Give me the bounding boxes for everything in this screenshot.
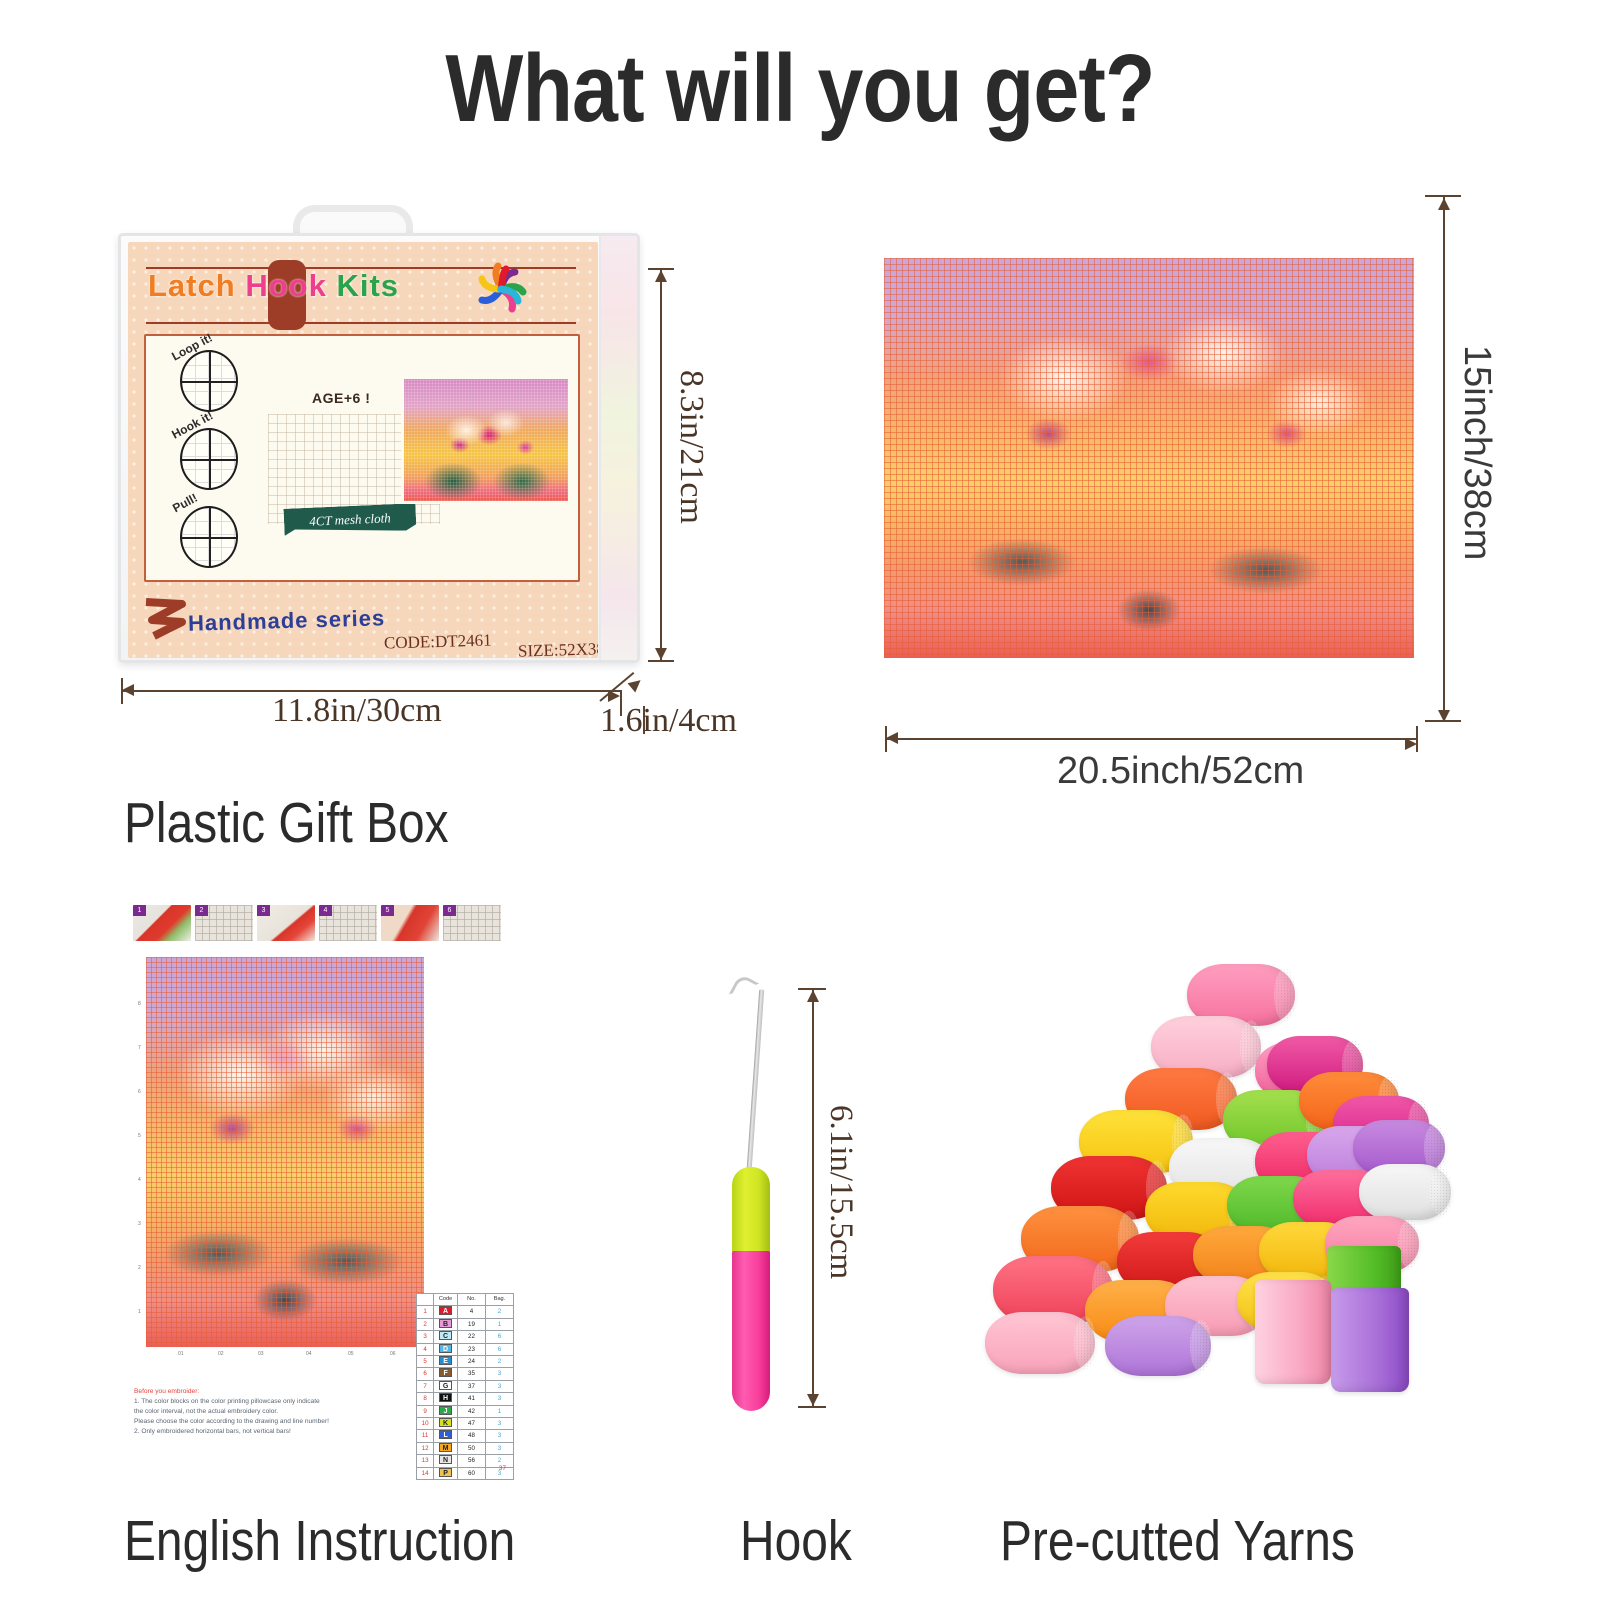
legend-color-swatch: K — [439, 1418, 452, 1427]
legend-total: 37 — [416, 1465, 514, 1472]
legend-header-index — [417, 1294, 434, 1306]
box-height-dim-label: 8.3in/21cm — [672, 370, 710, 524]
caption-pre-cutted-yarns: Pre-cutted Yarns — [1000, 1508, 1355, 1574]
note-line-1: 1. The color blocks on the color printin… — [134, 1398, 320, 1405]
mesh-canvas-photo — [884, 258, 1414, 658]
step-diagram-hook — [180, 428, 238, 490]
legend-row: 6F353 — [417, 1368, 514, 1380]
legend-code: G — [434, 1380, 458, 1392]
product-infographic: What will you get? Latch Hook Kits — [0, 0, 1600, 1600]
chart-y-tick: 4 — [138, 1177, 141, 1183]
note-heading: Before you embroider: — [134, 1387, 404, 1397]
hook-length-dim-line — [812, 990, 814, 1408]
zigzag-icon — [142, 598, 188, 640]
legend-index: 6 — [417, 1368, 434, 1380]
yarn-cylinder-pink — [1255, 1280, 1331, 1384]
legend-code: K — [434, 1418, 458, 1430]
legend-bag: 2 — [485, 1356, 513, 1368]
thumbnail-number: 6 — [443, 905, 456, 916]
thumbnail-number: 1 — [133, 905, 146, 916]
legend-code: J — [434, 1405, 458, 1417]
legend-code: M — [434, 1442, 458, 1454]
legend-index: 12 — [417, 1442, 434, 1454]
legend-color-swatch: M — [439, 1443, 452, 1452]
thumbnail-number: 3 — [257, 905, 270, 916]
legend-row: 1A42 — [417, 1306, 514, 1318]
legend-row: 7G373 — [417, 1380, 514, 1392]
box-title-word-3: Kits — [336, 268, 399, 303]
box-bottom-band: Handmade series CODE:DT2461 SIZE:52X38CM — [128, 582, 598, 658]
note-line-4: 2. Only embroidered horizontal bars, not… — [134, 1428, 291, 1435]
legend-row: 5E242 — [417, 1356, 514, 1368]
canvas-height-dim-label: 15inch/38cm — [1455, 345, 1498, 560]
legend-color-swatch: A — [439, 1306, 452, 1315]
legend-color-swatch: G — [439, 1381, 452, 1390]
caption-english-instruction: English Instruction — [124, 1508, 515, 1574]
box-side-edge — [599, 236, 637, 660]
chart-y-tick: 6 — [138, 1089, 141, 1095]
hook-tool-photo — [716, 975, 796, 1425]
box-height-dim-line — [660, 270, 662, 660]
legend-no: 47 — [457, 1418, 485, 1430]
yarn-bundle — [1359, 1164, 1451, 1220]
legend-header-row: Code No. Bag. — [417, 1294, 514, 1306]
legend-no: 42 — [457, 1405, 485, 1417]
yarn-bundle — [985, 1312, 1095, 1374]
legend-code: D — [434, 1343, 458, 1355]
color-legend-table: Code No. Bag. 1A422B1913C2264D2365E2426F… — [416, 1293, 514, 1480]
pinwheel-logo-icon — [470, 258, 532, 320]
legend-header-bag: Bag. — [485, 1294, 513, 1306]
legend-row: 10K473 — [417, 1418, 514, 1430]
chart-x-tick: 02 — [218, 1351, 224, 1357]
box-size-label: SIZE:52X38CM — [518, 638, 598, 658]
yarn-pile-photo — [955, 950, 1455, 1420]
legend-bag: 3 — [485, 1442, 513, 1454]
canvas-width-dim-label: 20.5inch/52cm — [1057, 750, 1304, 793]
legend-color-swatch: E — [439, 1356, 452, 1365]
legend-bag: 6 — [485, 1331, 513, 1343]
thumbnail-number: 4 — [319, 905, 332, 916]
chart-x-tick: 04 — [306, 1351, 312, 1357]
canvas-width-dim-line — [886, 738, 1418, 740]
legend-index: 9 — [417, 1405, 434, 1417]
legend-code: B — [434, 1318, 458, 1330]
caption-plastic-gift-box: Plastic Gift Box — [124, 790, 449, 856]
legend-index: 2 — [417, 1318, 434, 1330]
step-thumbnail-row: 1 1 2 2 3 3 4 4 5 5 6 6 — [133, 905, 513, 947]
page-title: What will you get? — [112, 34, 1488, 144]
hook-barb-icon — [729, 973, 760, 1005]
caption-hook: Hook — [740, 1508, 852, 1574]
box-title-word-1: Latch — [148, 268, 236, 303]
mesh-canvas-grid — [884, 258, 1414, 658]
step-thumbnail: 6 6 — [443, 905, 501, 941]
chart-y-tick: 5 — [138, 1133, 141, 1139]
legend-row: 12M503 — [417, 1442, 514, 1454]
legend-bag: 3 — [485, 1368, 513, 1380]
box-front-panel: Latch Hook Kits — [128, 242, 598, 658]
step-thumbnail: 4 4 — [319, 905, 377, 941]
legend-row: 8H413 — [417, 1393, 514, 1405]
legend-color-swatch: C — [439, 1331, 452, 1340]
canvas-height-dim-line — [1443, 196, 1445, 722]
legend-no: 23 — [457, 1343, 485, 1355]
legend-bag: 3 — [485, 1430, 513, 1442]
legend-bag: 1 — [485, 1318, 513, 1330]
thumbnail-number: 5 — [381, 905, 394, 916]
chart-y-tick: 8 — [138, 1001, 141, 1007]
legend-no: 41 — [457, 1393, 485, 1405]
legend-bag: 3 — [485, 1418, 513, 1430]
legend-color-swatch: N — [439, 1455, 452, 1464]
legend-no: 48 — [457, 1430, 485, 1442]
legend-bag: 3 — [485, 1393, 513, 1405]
legend-row: 3C226 — [417, 1331, 514, 1343]
step-diagram-pull — [180, 506, 238, 568]
legend-code: L — [434, 1430, 458, 1442]
step-thumbnail: 5 5 — [381, 905, 439, 941]
legend-no: 35 — [457, 1368, 485, 1380]
note-line-2: the color interval, not the actual embro… — [134, 1408, 278, 1415]
mesh-ribbon: 4CT mesh cloth — [283, 503, 416, 536]
instruction-sheet: 1 1 2 2 3 3 4 4 5 5 6 6 — [128, 905, 518, 1485]
box-shell: Latch Hook Kits — [118, 233, 640, 663]
gift-box-photo: Latch Hook Kits — [118, 205, 648, 675]
pattern-chart-grid — [146, 957, 424, 1347]
legend-index: 8 — [417, 1393, 434, 1405]
legend-color-swatch: H — [439, 1393, 452, 1402]
legend-code: E — [434, 1356, 458, 1368]
legend-color-swatch: J — [439, 1406, 452, 1415]
legend-row: 4D236 — [417, 1343, 514, 1355]
legend-code: F — [434, 1368, 458, 1380]
legend-index: 3 — [417, 1331, 434, 1343]
legend-no: 4 — [457, 1306, 485, 1318]
chart-x-tick: 05 — [348, 1351, 354, 1357]
yarn-bundle — [1105, 1316, 1211, 1376]
legend-index: 7 — [417, 1380, 434, 1392]
step-thumbnail: 1 1 — [133, 905, 191, 941]
legend-header-no: No. — [457, 1294, 485, 1306]
age-note: AGE+6 ! — [312, 390, 370, 406]
before-you-embroider-note: Before you embroider: 1. The color block… — [134, 1387, 404, 1436]
legend-no: 22 — [457, 1331, 485, 1343]
hook-handle-lower — [732, 1251, 770, 1411]
legend-color-swatch: F — [439, 1368, 452, 1377]
legend-index: 4 — [417, 1343, 434, 1355]
pattern-chart — [146, 957, 424, 1347]
handmade-series-label: Handmade series — [188, 605, 386, 636]
legend-no: 37 — [457, 1380, 485, 1392]
step-thumbnail: 3 3 — [257, 905, 315, 941]
thumbnail-number: 2 — [195, 905, 208, 916]
chart-x-tick: 03 — [258, 1351, 264, 1357]
legend-bag: 3 — [485, 1380, 513, 1392]
chart-x-tick: 06 — [390, 1351, 396, 1357]
note-line-3: Please choose the color according to the… — [134, 1418, 329, 1425]
chart-y-tick: 3 — [138, 1221, 141, 1227]
legend-no: 50 — [457, 1442, 485, 1454]
legend-header-code: Code — [434, 1294, 458, 1306]
chart-y-tick: 7 — [138, 1045, 141, 1051]
legend-code: H — [434, 1393, 458, 1405]
box-instruction-panel: Loop it! Hook it! Pull! AGE+6 ! 4CT mesh… — [144, 334, 580, 582]
legend-row: 2B191 — [417, 1318, 514, 1330]
legend-index: 10 — [417, 1418, 434, 1430]
legend-row: 9J421 — [417, 1405, 514, 1417]
hook-handle-upper — [732, 1167, 770, 1253]
chart-y-tick: 1 — [138, 1309, 141, 1315]
box-depth-dim-label: 1.6in/4cm — [600, 702, 737, 740]
legend-index: 5 — [417, 1356, 434, 1368]
legend-index: 11 — [417, 1430, 434, 1442]
legend-bag: 2 — [485, 1306, 513, 1318]
chart-x-tick: 01 — [178, 1351, 184, 1357]
legend-row: 11L483 — [417, 1430, 514, 1442]
legend-color-swatch: L — [439, 1430, 452, 1439]
box-title: Latch Hook Kits — [148, 268, 399, 304]
box-code-label: CODE:DT2461 — [384, 631, 492, 654]
box-width-dim-label: 11.8in/30cm — [272, 692, 442, 730]
chart-y-tick: 2 — [138, 1265, 141, 1271]
hook-length-dim-label: 6.1in/15.5cm — [822, 1105, 859, 1279]
box-title-word-2: Hook — [245, 268, 327, 303]
legend-code: C — [434, 1331, 458, 1343]
legend-bag: 1 — [485, 1405, 513, 1417]
legend-color-swatch: B — [439, 1319, 452, 1328]
finished-rug-photo — [401, 376, 571, 504]
hook-needle — [746, 989, 764, 1179]
legend-no: 24 — [457, 1356, 485, 1368]
legend-bag: 6 — [485, 1343, 513, 1355]
legend-color-swatch: D — [439, 1344, 452, 1353]
legend-code: A — [434, 1306, 458, 1318]
legend-index: 1 — [417, 1306, 434, 1318]
step-thumbnail: 2 2 — [195, 905, 253, 941]
step-diagram-loop — [180, 350, 238, 412]
legend-no: 19 — [457, 1318, 485, 1330]
yarn-cylinder-purple — [1331, 1288, 1409, 1392]
